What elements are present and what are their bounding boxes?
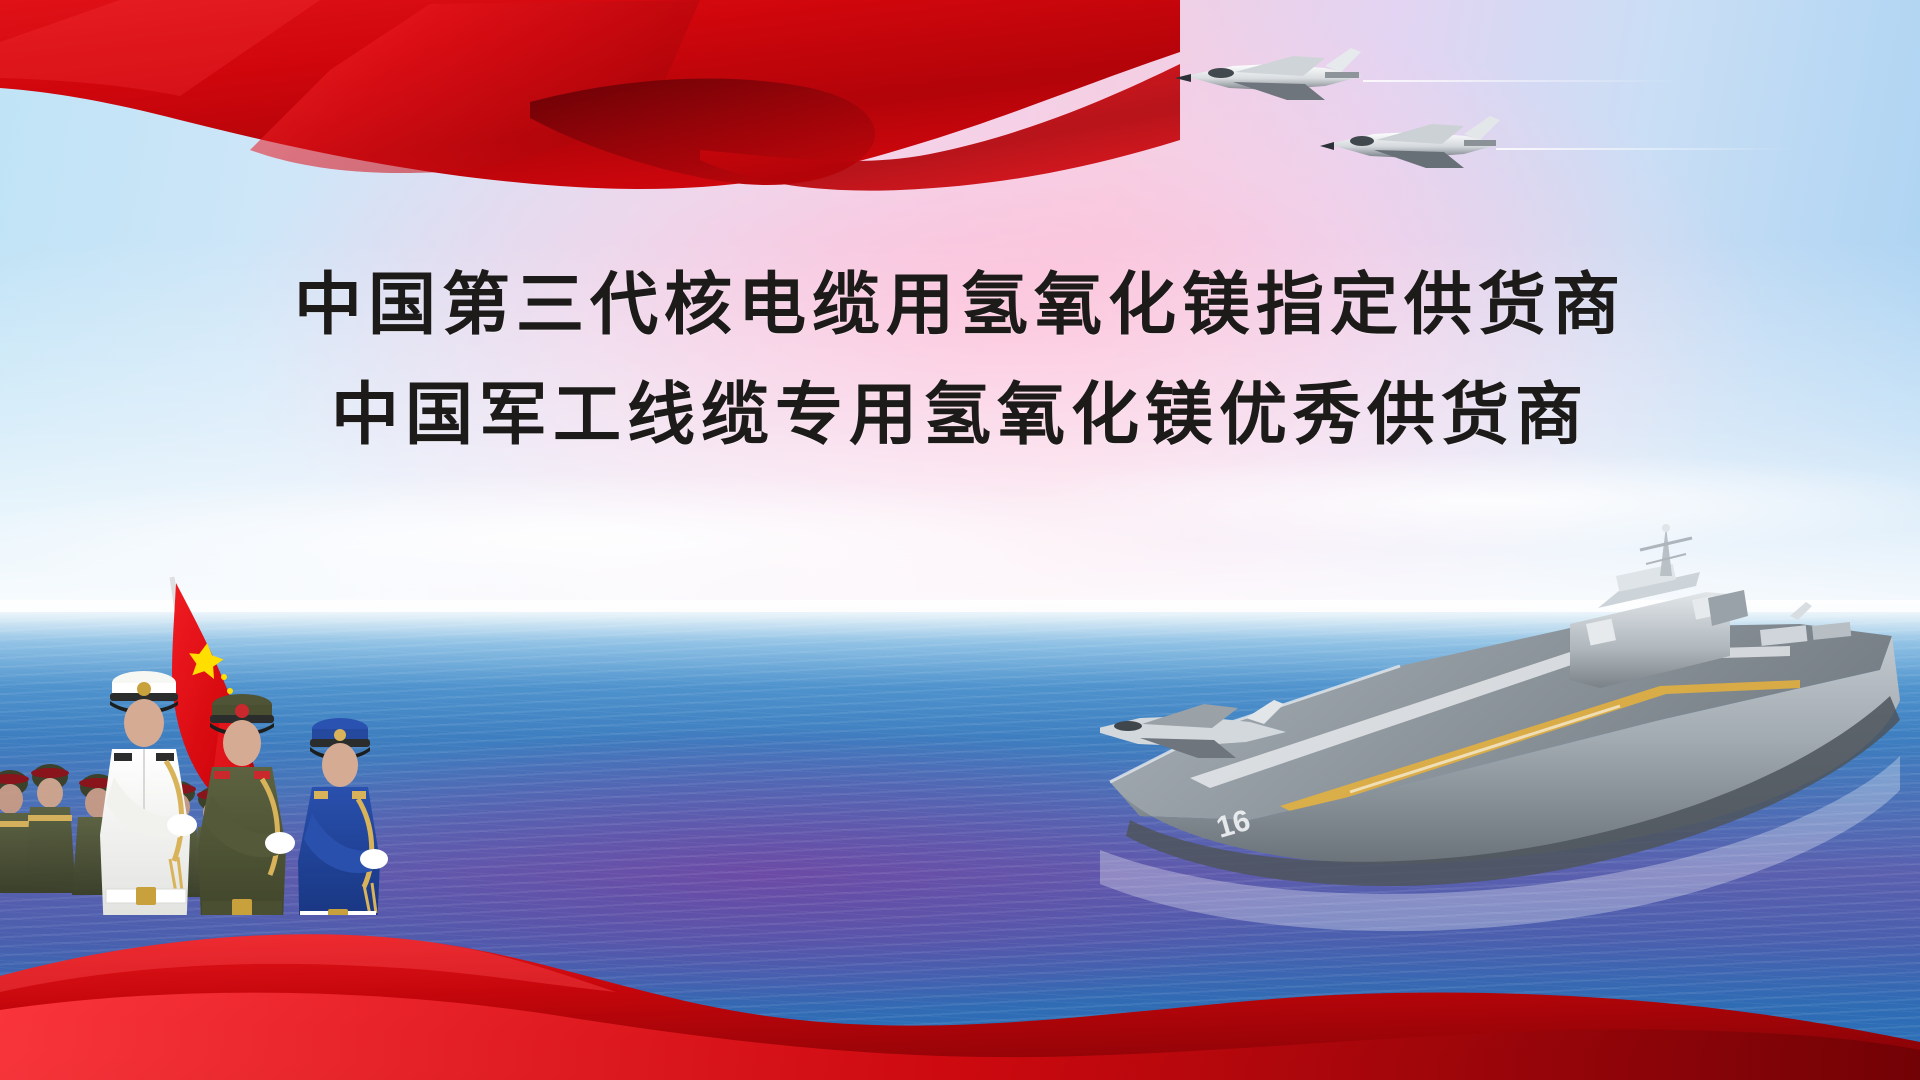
promo-banner: 16 xyxy=(0,0,1920,1080)
headline-line-1: 中国第三代核电缆用氢氧化镁指定供货商 xyxy=(0,250,1920,360)
honor-guard-group xyxy=(0,525,456,920)
headline-line-2: 中国军工线缆专用氢氧化镁优秀供货商 xyxy=(0,360,1920,470)
headline-block: 中国第三代核电缆用氢氧化镁指定供货商 中国军工线缆专用氢氧化镁优秀供货商 xyxy=(0,250,1920,470)
fighter-jet-wing xyxy=(1320,108,1510,199)
red-ribbon-bottom xyxy=(0,880,1920,1080)
